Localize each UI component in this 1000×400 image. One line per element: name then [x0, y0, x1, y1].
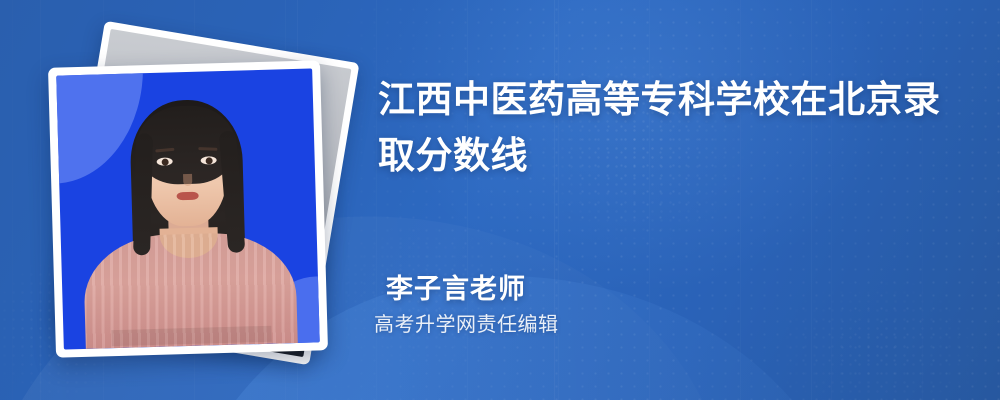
author-role: 高考升学网责任编辑 [374, 312, 559, 338]
author-name: 李子言老师 [386, 272, 559, 306]
headline-block: 江西中医药高等专科学校在北京录 取分数线 [378, 72, 958, 184]
page-title: 江西中医药高等专科学校在北京录 取分数线 [378, 72, 958, 184]
author-photo-stack [52, 36, 362, 366]
article-header-banner: 江西中医药高等专科学校在北京录 取分数线 李子言老师 高考升学网责任编辑 [0, 0, 1000, 400]
author-photo [56, 68, 320, 349]
portrait-illustration [70, 91, 307, 349]
photo-card-front [48, 60, 328, 357]
nose-shape [183, 174, 192, 186]
author-block: 李子言老师 高考升学网责任编辑 [386, 272, 559, 338]
mouth-shape [177, 192, 199, 201]
